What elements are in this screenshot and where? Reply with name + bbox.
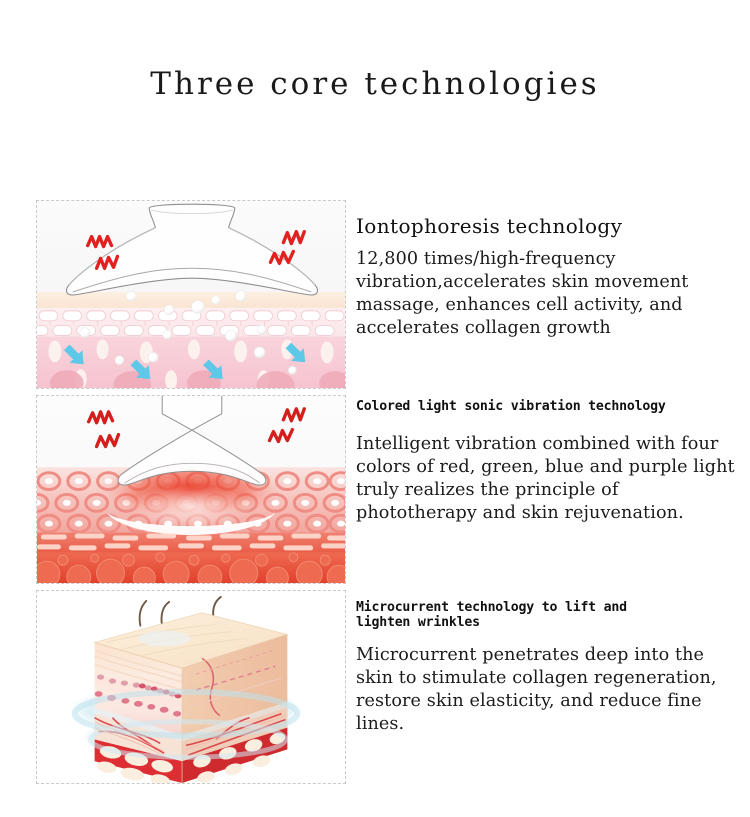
illustration-panel-microcurrent bbox=[36, 590, 346, 784]
epidermis-layer bbox=[37, 292, 345, 308]
colored-light-illustration bbox=[37, 396, 345, 583]
illustration-panel-colored-light bbox=[36, 395, 346, 584]
heading-colored-light: Colored light sonic vibration technology bbox=[356, 399, 666, 414]
illustration-panel-iontophoresis bbox=[36, 200, 346, 389]
section-colored-light-sonic: Colored light sonic vibration technology… bbox=[36, 395, 742, 585]
iontophoresis-illustration bbox=[37, 201, 345, 388]
page-title: Three core technologies bbox=[0, 66, 750, 102]
body-colored-light: Intelligent vibration combined with four… bbox=[356, 433, 736, 525]
microcurrent-illustration bbox=[37, 591, 345, 783]
body-microcurrent: Microcurrent penetrates deep into the sk… bbox=[356, 644, 741, 736]
section-iontophoresis: Iontophoresis technology 12,800 times/hi… bbox=[36, 200, 742, 390]
body-iontophoresis: 12,800 times/high-frequency vibration,ac… bbox=[356, 248, 746, 340]
heading-iontophoresis: Iontophoresis technology bbox=[356, 214, 622, 238]
heading-microcurrent: Microcurrent technology to lift and ligh… bbox=[356, 601, 646, 631]
infographic-page: Three core technologies bbox=[0, 0, 750, 817]
section-microcurrent: Microcurrent technology to lift and ligh… bbox=[36, 590, 742, 785]
top-face-sheen bbox=[138, 631, 190, 647]
light-core-glow bbox=[129, 485, 252, 529]
